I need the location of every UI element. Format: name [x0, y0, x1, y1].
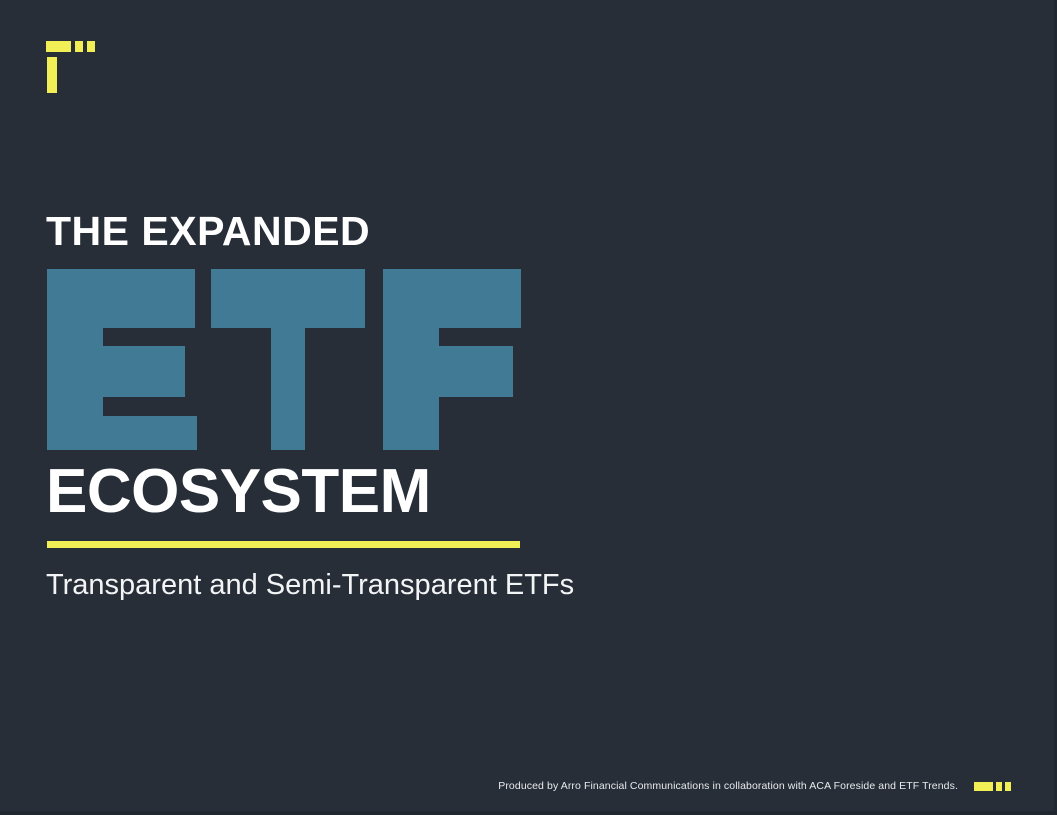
logo-bar-shape [46, 41, 71, 52]
eyebrow-text: THE EXPANDED [46, 206, 666, 256]
etf-letter-e [47, 269, 197, 450]
etf-wordmark: ETF [47, 269, 521, 450]
cover-page: THE EXPANDED ETF ECOSYSTEM Transparent a… [0, 0, 1057, 815]
etf-letter-f [383, 269, 521, 450]
footer-logo-square-one-shape [996, 782, 1002, 791]
title-block: THE EXPANDED ETF ECOSYSTEM Transparent a… [46, 206, 666, 603]
footer-logo-bar-shape [974, 782, 993, 791]
headline-text: ECOSYSTEM [46, 459, 666, 525]
subtitle-text: Transparent and Semi-Transparent ETFs [46, 567, 666, 603]
etf-letter-t [211, 269, 365, 450]
footer-logo-square-two-shape [1005, 782, 1011, 791]
logo-square-one-shape [75, 41, 83, 52]
footer: Produced by Arro Financial Communication… [0, 780, 1057, 792]
arro-logo-mark-small-icon [974, 782, 1011, 791]
logo-stem-shape [47, 57, 57, 93]
logo-square-two-shape [87, 41, 95, 52]
yellow-divider-rule [47, 541, 520, 548]
arro-logo-mark-icon [46, 41, 90, 93]
footer-credit-text: Produced by Arro Financial Communication… [498, 780, 958, 792]
page-bottom-edge [0, 811, 1057, 815]
